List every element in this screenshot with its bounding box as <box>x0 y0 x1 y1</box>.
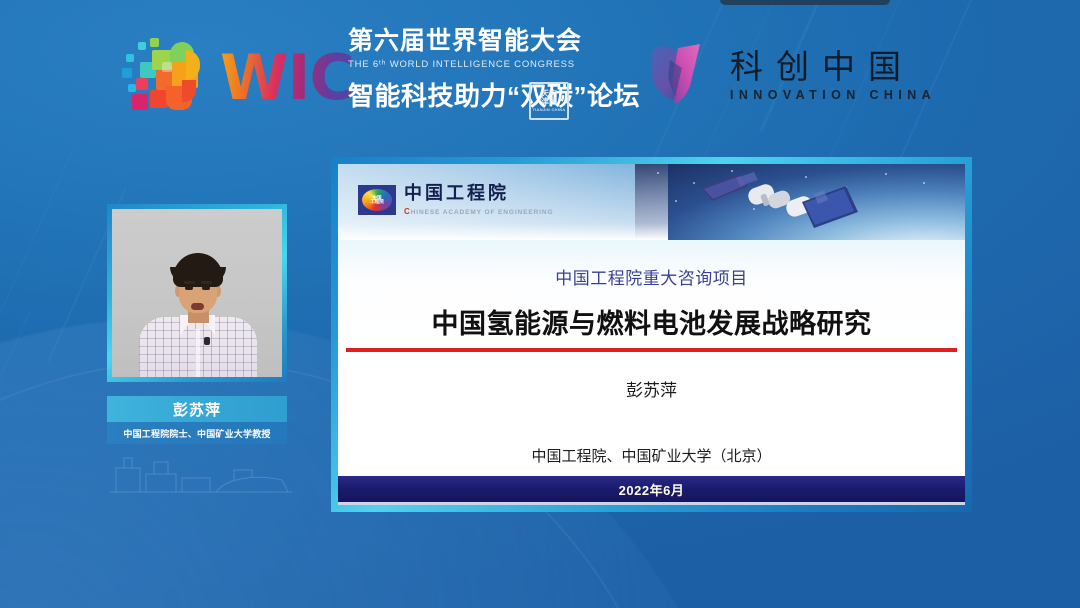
badge-sub: TIANJIN CHINA <box>532 108 565 112</box>
speaker-name: 彭苏萍 <box>107 396 287 422</box>
slide-subtitle: 中国工程院重大咨询项目 <box>338 264 965 289</box>
innovation-china-cn: 科创中国 <box>730 50 936 83</box>
speaker-name-plate: 彭苏萍 中国工程院院士、中国矿业大学教授 <box>107 396 287 444</box>
innovation-china-logo-group: 科创中国 INNOVATION CHINA <box>648 42 936 110</box>
space-station-icon <box>696 172 886 234</box>
broadcast-stage: WIC 第六届世界智能大会 THE 6ᵗʰ WORLD INTELLIGENCE… <box>0 0 1080 608</box>
speaker-figure <box>133 243 261 377</box>
innovation-china-en: INNOVATION CHINA <box>730 88 936 102</box>
cae-text: 中国工程院 CHINESE ACADEMY OF ENGINEERING <box>404 185 553 216</box>
slide-banner: 中国工程院 中国工程院 CHINESE ACADEMY OF ENGINEERI… <box>338 164 965 240</box>
speaker-video-feed[interactable] <box>112 209 282 377</box>
wic-logo-group: WIC <box>122 36 354 120</box>
innovation-china-text: 科创中国 INNOVATION CHINA <box>730 50 936 102</box>
tianjin-china-badge-icon: 天中 津国 TIANJIN CHINA <box>529 82 569 120</box>
cae-name-cn: 中国工程院 <box>404 185 553 203</box>
slide-body: 中国工程院重大咨询项目 中国氢能源与燃料电池发展战略研究 彭苏萍 中国工程院、中… <box>338 240 965 505</box>
presentation-slide-frame[interactable]: 中国工程院 中国工程院 CHINESE ACADEMY OF ENGINEERI… <box>331 157 972 512</box>
cae-logo: 中国工程院 中国工程院 CHINESE ACADEMY OF ENGINEERI… <box>358 185 553 216</box>
slide-affiliation: 中国工程院、中国矿业大学（北京） <box>338 445 965 466</box>
slide-date: 2022年6月 <box>619 480 685 499</box>
title-divider <box>346 348 957 352</box>
event-header: WIC 第六届世界智能大会 THE 6ᵗʰ WORLD INTELLIGENCE… <box>0 28 1080 140</box>
congress-title-cn: 第六届世界智能大会 <box>348 28 598 56</box>
congress-title-en: THE 6ᵗʰ WORLD INTELLIGENCE CONGRESS <box>348 59 598 70</box>
cae-seal-icon: 中国工程院 <box>358 185 396 215</box>
cae-name-en: CHINESE ACADEMY OF ENGINEERING <box>404 207 553 216</box>
presentation-slide[interactable]: 中国工程院 中国工程院 CHINESE ACADEMY OF ENGINEERI… <box>338 164 965 505</box>
wic-pixel-head-icon <box>122 36 206 120</box>
wic-wordmark: WIC <box>220 47 354 109</box>
lapel-mic-icon <box>204 337 210 345</box>
innovation-china-mark-icon <box>648 42 712 110</box>
speaker-title: 中国工程院院士、中国矿业大学教授 <box>107 422 287 444</box>
top-edge-ui-strip <box>720 0 890 5</box>
speaker-video-frame[interactable] <box>107 204 287 382</box>
line-art-watermark-icon <box>106 448 296 496</box>
badge-line-2: 津国 <box>541 98 557 106</box>
slide-author: 彭苏萍 <box>338 376 965 401</box>
slide-date-bar: 2022年6月 <box>338 476 965 505</box>
slide-title: 中国氢能源与燃料电池发展战略研究 <box>338 302 965 341</box>
